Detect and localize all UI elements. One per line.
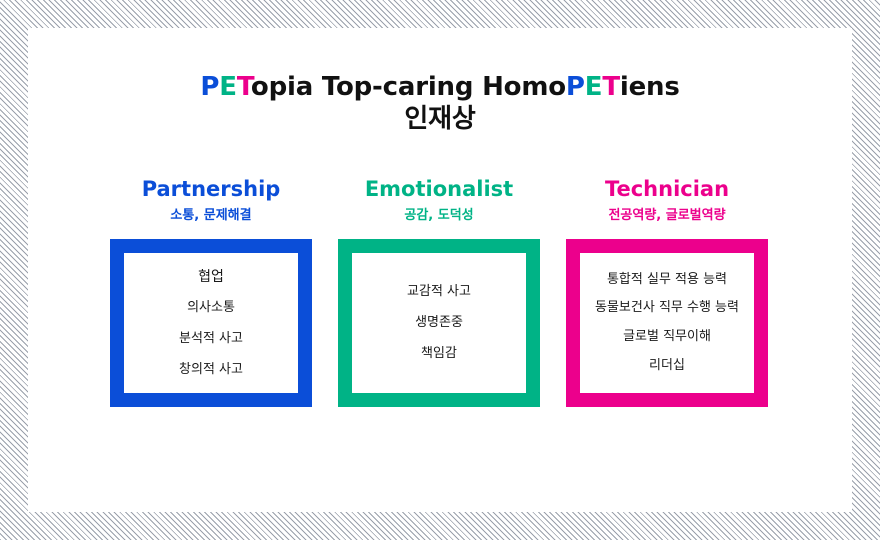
- pillar-box-emotionalist: 교감적 사고 생명존중 책임감: [338, 239, 540, 407]
- slide-canvas: PETopia Top-caring HomoPETiens 인재상 Partn…: [28, 28, 852, 512]
- list-item: 통합적 실무 적용 능력: [607, 273, 727, 288]
- title-letter-e1: E: [219, 72, 237, 102]
- title-letter-p1: P: [200, 72, 219, 102]
- title-letter-t2: T: [602, 72, 620, 102]
- title-line-1: PETopia Top-caring HomoPETiens: [28, 72, 852, 104]
- list-item: 의사소통: [187, 301, 235, 316]
- list-item: 동물보건사 직무 수행 능력: [595, 301, 739, 316]
- list-item: 글로벌 직무이해: [623, 330, 711, 345]
- pillar-heading-partnership: Partnership: [110, 178, 312, 201]
- list-item: 책임감: [421, 347, 457, 362]
- title-line-2: 인재상: [28, 104, 852, 136]
- pillar-box-partnership: 협업 의사소통 분석적 사고 창의적 사고: [110, 239, 312, 407]
- pillar-subtitle-technician: 전공역량, 글로벌역량: [566, 209, 768, 223]
- title-letter-e2: E: [585, 72, 603, 102]
- pillar-partnership: Partnership 소통, 문제해결 협업 의사소통 분석적 사고 창의적 …: [110, 178, 312, 407]
- list-item: 협업: [198, 269, 224, 285]
- title-text-end: iens: [620, 72, 680, 102]
- slide-frame: PETopia Top-caring HomoPETiens 인재상 Partn…: [0, 0, 880, 540]
- pillar-emotionalist: Emotionalist 공감, 도덕성 교감적 사고 생명존중 책임감: [338, 178, 540, 407]
- pillar-subtitle-emotionalist: 공감, 도덕성: [338, 209, 540, 223]
- page-title: PETopia Top-caring HomoPETiens 인재상: [28, 72, 852, 135]
- title-letter-p2: P: [566, 72, 585, 102]
- list-item: 생명존중: [415, 316, 463, 331]
- title-text-mid: opia Top-caring Homo: [251, 72, 566, 102]
- list-item: 창의적 사고: [179, 363, 243, 378]
- pillar-technician: Technician 전공역량, 글로벌역량 통합적 실무 적용 능력 동물보건…: [566, 178, 768, 407]
- list-item: 분석적 사고: [179, 332, 243, 347]
- title-letter-t1: T: [237, 72, 251, 102]
- pillar-heading-emotionalist: Emotionalist: [338, 178, 540, 201]
- list-item: 교감적 사고: [407, 285, 471, 300]
- pillar-heading-technician: Technician: [566, 178, 768, 201]
- list-item: 리더십: [649, 359, 685, 374]
- pillar-box-technician: 통합적 실무 적용 능력 동물보건사 직무 수행 능력 글로벌 직무이해 리더십: [566, 239, 768, 407]
- pillar-subtitle-partnership: 소통, 문제해결: [110, 209, 312, 223]
